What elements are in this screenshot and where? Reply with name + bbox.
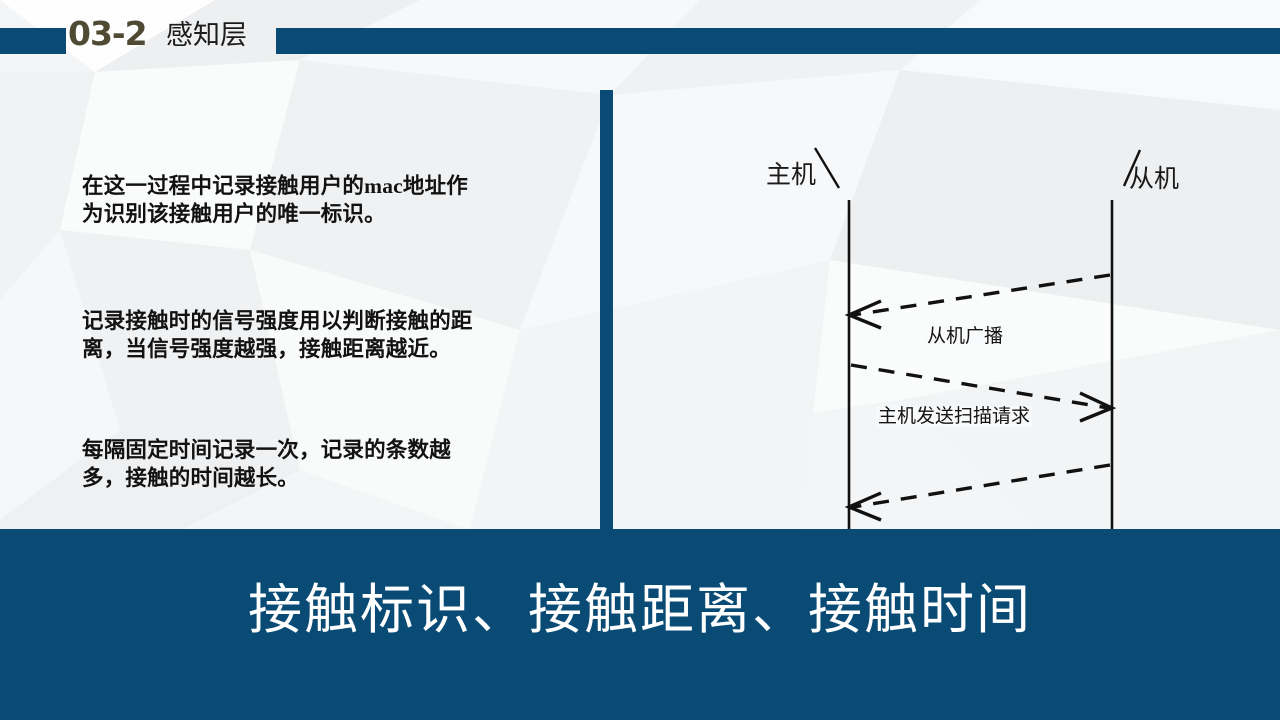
header-accent-bar-left	[0, 28, 66, 54]
vertical-divider	[600, 90, 613, 530]
section-number: 03-2	[68, 17, 147, 50]
message-label-1: 从机广播	[925, 326, 1005, 347]
message-arrow-3-line	[853, 465, 1110, 507]
body-paragraph-1: 在这一过程中记录接触用户的mac地址作为识别该接触用户的唯一标识。	[82, 172, 486, 229]
message-arrow-1-line	[853, 275, 1110, 315]
actor-leader-slave	[1124, 150, 1140, 186]
message-arrow-2-head	[1080, 393, 1112, 421]
slide-canvas: 03-2 感知层 在这一过程中记录接触用户的mac地址作为识别该接触用户的唯一标…	[0, 0, 1280, 720]
message-label-2: 主机发送扫描请求	[876, 406, 1032, 427]
actor-leader-master	[815, 148, 839, 188]
message-arrow-2-line	[851, 365, 1108, 408]
sequence-diagram-lines	[613, 60, 1280, 530]
sequence-diagram: 主机 从机 从机广播 主机发送扫描请求 从机返回扫描响应	[613, 60, 1280, 530]
message-arrow-1-head	[849, 301, 881, 328]
body-paragraph-2: 记录接触时的信号强度用以判断接触的距离，当信号强度越强，接触距离越近。	[82, 307, 486, 364]
bottom-banner-text: 接触标识、接触距离、接触时间	[0, 583, 1280, 637]
body-text-column: 在这一过程中记录接触用户的mac地址作为识别该接触用户的唯一标识。 记录接触时的…	[82, 172, 486, 492]
header-accent-bar-right	[276, 28, 1280, 54]
message-arrow-3-head	[849, 493, 881, 520]
section-title: 感知层	[166, 22, 247, 49]
body-paragraph-3: 每隔固定时间记录一次，记录的条数越多，接触的时间越长。	[82, 436, 486, 493]
